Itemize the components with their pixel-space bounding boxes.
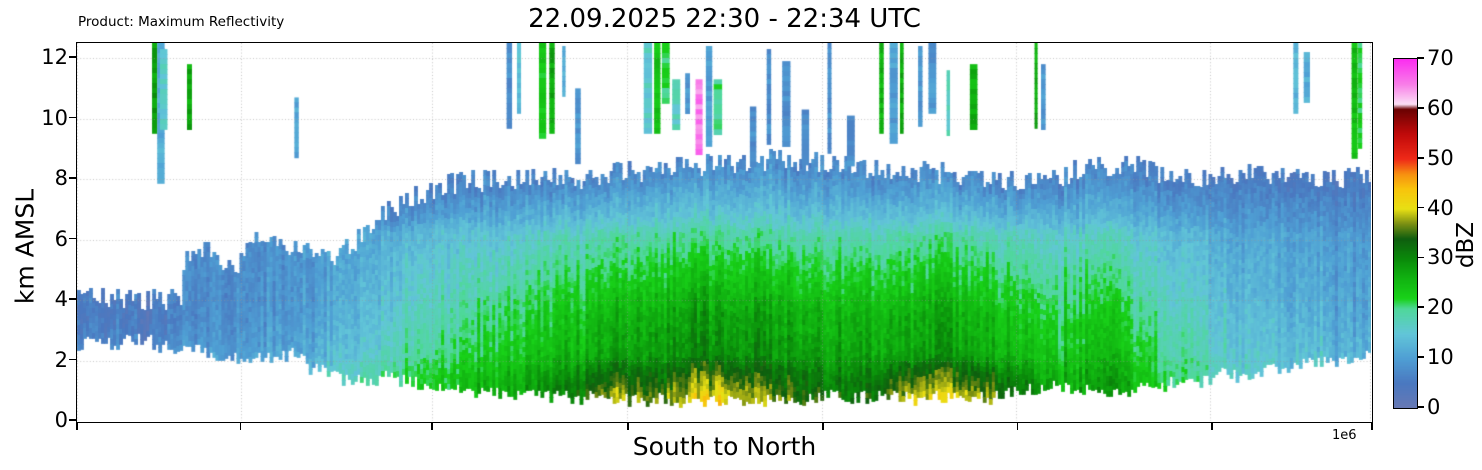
colorbar-tick-label: 60 [1427,96,1454,120]
colorbar-tick-label: 50 [1427,146,1454,170]
x-tick-mark [1371,423,1373,430]
x-tick-mark [76,423,78,430]
colorbar-tick-label: 40 [1427,196,1454,220]
colorbar-tick-mark [1417,406,1424,408]
colorbar-tick-mark [1417,157,1424,159]
colorbar-tick-mark [1417,257,1424,259]
colorbar-tick-label: 0 [1427,395,1440,419]
colorbar-label: dBZ [1453,165,1479,325]
y-tick-mark [69,298,76,300]
page-title: 22.09.2025 22:30 - 22:34 UTC [76,4,1373,34]
radar-cross-section-figure: Product: Maximum Reflectivity 22.09.2025… [0,0,1482,470]
y-tick-label: 4 [55,287,68,311]
colorbar-tick-label: 10 [1427,345,1454,369]
colorbar-tick-mark [1417,57,1424,59]
y-tick-label: 6 [55,227,68,251]
x-tick-mark [1211,423,1213,430]
y-tick-label: 10 [41,106,68,130]
x-axis-label: South to North [76,432,1373,461]
plot-area [76,42,1373,423]
y-tick-mark [69,117,76,119]
y-tick-label: 2 [55,348,68,372]
colorbar-tick-mark [1417,207,1424,209]
y-tick-label: 0 [55,408,68,432]
y-tick-mark [69,359,76,361]
colorbar-tick-mark [1417,306,1424,308]
y-axis-label: km AMSL [11,127,40,367]
x-tick-mark [627,423,629,430]
colorbar-tick-mark [1417,107,1424,109]
colorbar-tick-label: 20 [1427,295,1454,319]
reflectivity-heatmap [77,43,1371,421]
y-tick-label: 12 [41,45,68,69]
x-tick-mark [431,423,433,430]
colorbar-tick-mark [1417,356,1424,358]
y-tick-mark [69,238,76,240]
y-tick-mark [69,177,76,179]
colorbar-tick-label: 70 [1427,46,1454,70]
y-tick-label: 8 [55,166,68,190]
y-tick-mark [69,56,76,58]
y-tick-mark [69,419,76,421]
x-tick-mark [822,423,824,430]
colorbar [1393,58,1416,407]
colorbar-gradient [1393,58,1418,409]
x-tick-mark [240,423,242,430]
colorbar-tick-label: 30 [1427,245,1454,269]
x-axis-offset-text: 1e6 [1332,428,1357,443]
x-tick-mark [1017,423,1019,430]
